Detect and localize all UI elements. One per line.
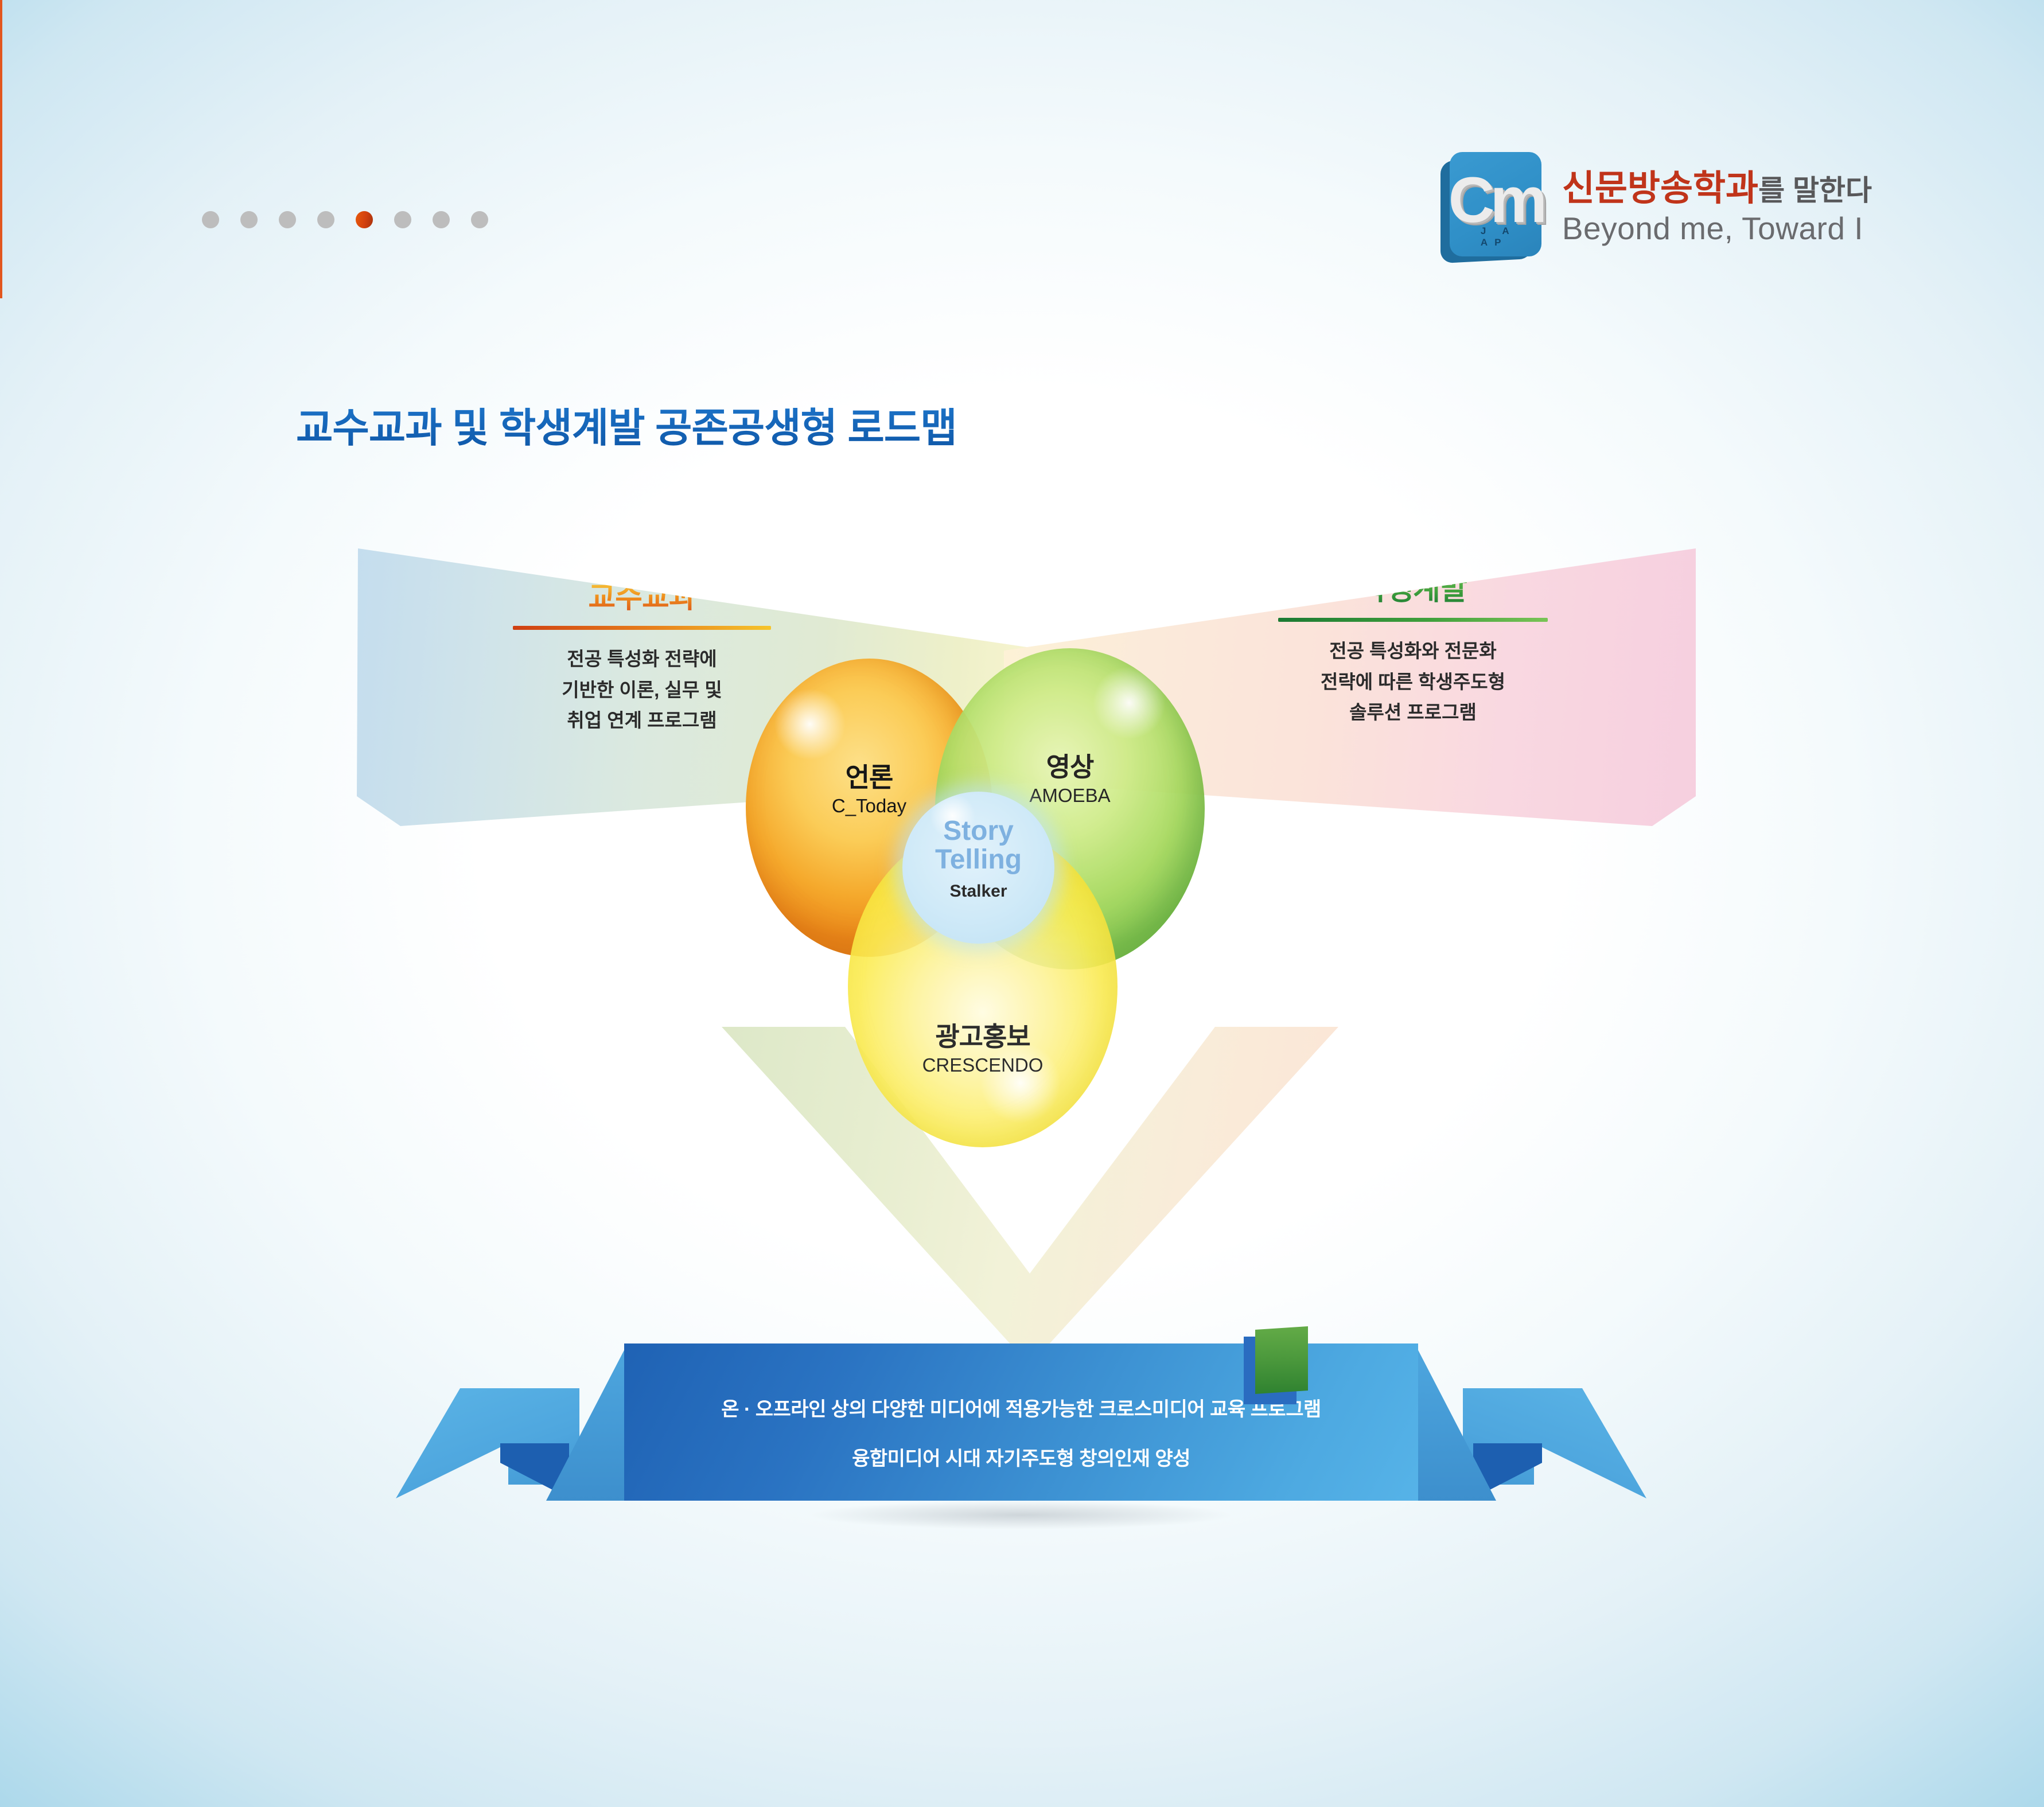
pagination-dot-2[interactable]: [240, 211, 258, 228]
brand-title-rest: 를 말한다: [1758, 174, 1872, 207]
bubble-storytelling-core[interactable]: Story Telling Stalker: [902, 792, 1054, 944]
panel-left-body: 전공 특성화 전략에 기반한 이론, 실무 및 취업 연계 프로그램: [513, 644, 771, 735]
brand-lockup: Cm J A AP 신문방송학과를 말한다 Beyond me, Toward …: [1440, 152, 1872, 264]
pagination-dot-7[interactable]: [433, 211, 450, 228]
storytelling-label: Story Telling Stalker: [902, 817, 1054, 901]
panel-left-body-line-1: 전공 특성화 전략에: [513, 644, 771, 674]
bubble-advertising-pr-team: CRESCENDO: [848, 1054, 1118, 1077]
ribbon-text: 온 · 오프라인 상의 다양한 미디어에 적용가능한 크로스미디어 교육 프로그…: [624, 1400, 1418, 1469]
ribbon-ground-shadow: [729, 1495, 1314, 1535]
panel-left-heading: 교수교과: [513, 582, 771, 614]
pagination-dots[interactable]: [202, 211, 488, 228]
logo-sub-letters: J A AP: [1481, 225, 1545, 248]
bubble-advertising-pr-label: 광고홍보 CRESCENDO: [848, 1021, 1118, 1077]
panel-left-body-line-2: 기반한 이론, 실무 및: [513, 675, 771, 705]
pagination-dot-8[interactable]: [471, 211, 488, 228]
brand-title: 신문방송학과를 말한다: [1562, 170, 1872, 207]
bubble-video-name: 영상: [935, 751, 1205, 782]
pagination-dot-6[interactable]: [394, 211, 411, 228]
outcome-ribbon: 온 · 오프라인 상의 다양한 미디어에 적용가능한 크로스미디어 교육 프로그…: [396, 1331, 1646, 1520]
panel-right-heading: 학생계발: [1278, 574, 1548, 606]
program-bubbles-cluster: 언론 C_Today 영상 AMOEBA 광고홍보 CRESCENDO Stor…: [746, 648, 1354, 1176]
bubble-advertising-pr-name: 광고홍보: [848, 1021, 1118, 1052]
ribbon-text-line-2: 융합미디어 시대 자기주도형 창의인재 양성: [624, 1449, 1418, 1470]
left-edge-accent-rule: [0, 0, 2, 298]
brand-tagline: Beyond me, Toward I: [1562, 210, 1872, 247]
slide-canvas: Cm J A AP 신문방송학과를 말한다 Beyond me, Toward …: [0, 0, 2044, 1807]
brand-text: 신문방송학과를 말한다 Beyond me, Toward I: [1562, 170, 1872, 246]
brand-title-strong: 신문방송학과: [1562, 169, 1758, 208]
panel-left-body-line-3: 취업 연계 프로그램: [513, 705, 771, 735]
cm-logo-icon: Cm J A AP: [1440, 152, 1545, 264]
pagination-dot-1[interactable]: [202, 211, 219, 228]
panel-right-divider: [1278, 618, 1548, 622]
pagination-dot-3[interactable]: [279, 211, 296, 228]
panel-left-content: 교수교과 전공 특성화 전략에 기반한 이론, 실무 및 취업 연계 프로그램: [513, 582, 771, 736]
pagination-dot-4[interactable]: [317, 211, 334, 228]
storytelling-title-line-2: Telling: [902, 846, 1054, 874]
ribbon-text-line-1: 온 · 오프라인 상의 다양한 미디어에 적용가능한 크로스미디어 교육 프로그…: [624, 1400, 1418, 1420]
page-title: 교수교과 및 학생계발 공존공생형 로드맵: [296, 396, 957, 454]
pagination-dot-5-active[interactable]: [356, 211, 373, 228]
storytelling-title-line-1: Story: [902, 817, 1054, 846]
ribbon-bookmark-icon: [1255, 1326, 1308, 1394]
panel-left-divider: [513, 626, 771, 630]
storytelling-subtitle: Stalker: [902, 882, 1054, 901]
